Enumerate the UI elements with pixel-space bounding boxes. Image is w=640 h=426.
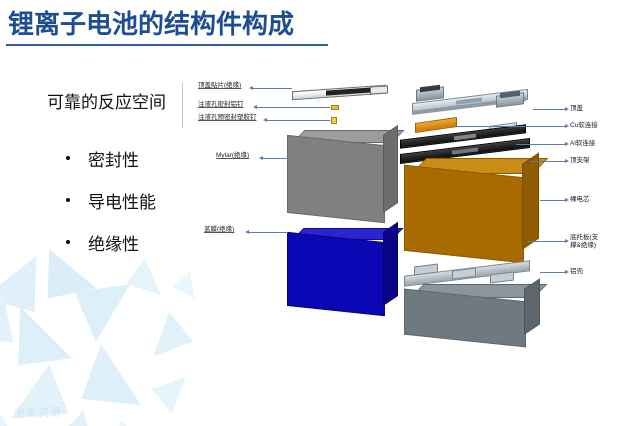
sticker-tip [370, 85, 388, 94]
watermark: 电车资源 [14, 404, 62, 420]
triangle-shape [152, 377, 196, 418]
triangle-shape [141, 308, 193, 356]
arrow-icon-fill-hole-plastic-nail [263, 118, 267, 122]
cu-connector-body [415, 117, 457, 133]
arrow-icon-fill-hole-al-nail [253, 105, 257, 109]
part-cu-soft-connector [415, 120, 455, 131]
arrow-icon-blue-film [245, 230, 249, 234]
arrow-icon-cu-soft-connector [565, 124, 569, 128]
slide-canvas: 锂离子电池的结构件构成 可靠的反应空间 密封性 导电性能 绝缘性 [0, 0, 640, 426]
part-blue-film-panel [287, 228, 399, 328]
list-item: 密封性 [66, 137, 156, 179]
part-fill-hole-al-nail [331, 105, 339, 110]
leader-line-aluminum-shell [540, 272, 566, 273]
shell-side-face [524, 278, 540, 335]
part-top-cover-sticker [292, 84, 384, 100]
leader-line-blue-film [248, 232, 288, 233]
part-top-cover [412, 86, 532, 116]
part-fill-hole-plastic-nail [331, 117, 337, 124]
leader-line-top-bracket [530, 161, 566, 162]
title-underline-rule [6, 44, 328, 46]
label-top-cover: 顶盖 [570, 105, 583, 113]
leader-line-fill-hole-plastic-nail [266, 120, 330, 121]
bottom-tray-tab [490, 272, 514, 284]
triangle-shape [0, 287, 18, 342]
label-blue-film: 蓝膜(绝缘) [204, 226, 234, 234]
triangle-shape [81, 343, 147, 405]
part-aluminum-shell [404, 284, 544, 354]
bullet-dot-icon [66, 156, 70, 160]
label-mylar: Mylar(绝缘) [216, 152, 249, 160]
arrow-icon-bare-cell [565, 198, 569, 202]
bare-cell-side-face [522, 153, 539, 250]
label-al-soft-connector: Al软连接 [570, 140, 595, 148]
page-title: 锂离子电池的结构件构成 [8, 4, 294, 41]
leader-line-cu-soft-connector [455, 126, 566, 127]
arrow-icon-top-bracket [565, 159, 569, 163]
leader-line-bottom-tray [528, 241, 566, 242]
arrow-icon-top-cover-sticker [249, 86, 253, 90]
bullet-list: 密封性 导电性能 绝缘性 [66, 137, 156, 263]
triangle-shape [10, 301, 72, 366]
arrow-icon-aluminum-shell [565, 270, 569, 274]
list-item: 绝缘性 [66, 221, 156, 263]
label-top-bracket: 顶支架 [570, 157, 590, 165]
part-bare-cell [404, 158, 538, 268]
label-bare-cell: 裸电芯 [570, 196, 590, 204]
bullet-label: 导电性能 [88, 188, 156, 213]
triangle-shape [108, 413, 157, 426]
leader-line-fill-hole-al-nail [256, 107, 330, 108]
label-cu-soft-connector: Cu软连接 [570, 122, 598, 130]
decorative-triangle-pattern [0, 242, 230, 426]
arrow-icon-mylar [259, 156, 263, 160]
label-aluminum-shell: 铝壳 [570, 268, 583, 276]
mylar-side-face [383, 125, 398, 213]
blue-film-side-face [383, 222, 398, 306]
leader-line-top-cover [533, 109, 566, 110]
label-top-cover-sticker: 顶盖贴片(绝缘) [198, 82, 241, 90]
label-fill-hole-plastic-nail: 注液孔预密封塑胶钉 [198, 114, 257, 122]
leader-line-top-cover-sticker [252, 88, 292, 89]
list-item: 导电性能 [66, 179, 156, 221]
triangle-shape [0, 246, 48, 311]
mylar-front-face [287, 135, 385, 223]
arrow-icon-top-cover [565, 107, 569, 111]
bullet-label: 密封性 [88, 146, 139, 171]
bullet-dot-icon [66, 240, 70, 244]
leader-line-mylar [262, 158, 288, 159]
label-bottom-tray: 底托板(支撑&绝缘) [570, 234, 604, 250]
bullet-dot-icon [66, 198, 70, 202]
arrow-icon-al-soft-connector [565, 142, 569, 146]
leader-line-al-soft-connector [516, 144, 566, 145]
blue-film-front-face [287, 232, 385, 316]
bullet-label: 绝缘性 [88, 230, 139, 255]
bare-cell-front-face [404, 165, 524, 264]
leader-line-bare-cell [540, 200, 566, 201]
label-fill-hole-al-nail: 注液孔密封铝钉 [198, 101, 244, 109]
lead-statement: 可靠的反应空间 [47, 88, 166, 113]
triangle-shape [75, 284, 138, 343]
lead-divider [182, 82, 183, 128]
triangle-shape [172, 267, 206, 299]
part-mylar-panel [287, 130, 399, 234]
arrow-icon-bottom-tray [565, 239, 569, 243]
